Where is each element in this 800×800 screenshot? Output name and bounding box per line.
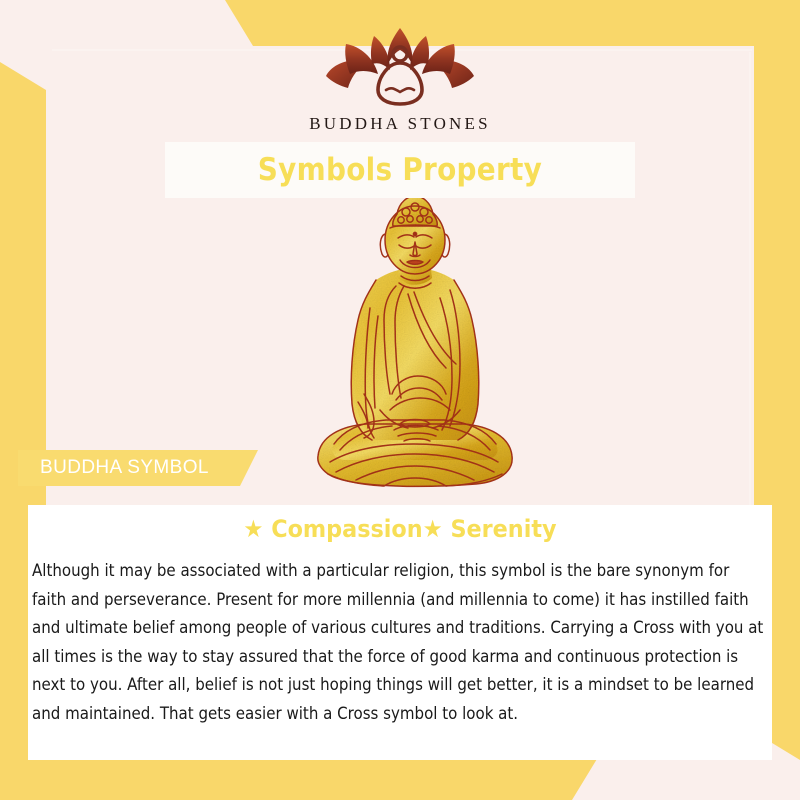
page-title-band: Symbols Property [165, 142, 635, 198]
golden-buddha-statue-image [300, 198, 530, 490]
section-ribbon: BUDDHA SYMBOL [18, 450, 258, 486]
frame-band-bottom [0, 754, 800, 800]
content-panel: ★ Compassion★ Serenity Although it may b… [28, 505, 772, 760]
brand-name: BUDDHA STONES [309, 114, 491, 134]
brand-logo: BUDDHA STONES [0, 24, 800, 134]
promo-page: BUDDHA STONES Symbols Property [0, 0, 800, 800]
lotus-meditation-icon [310, 24, 490, 108]
page-title: Symbols Property [258, 152, 542, 188]
section-ribbon-label: BUDDHA SYMBOL [40, 457, 209, 479]
content-subtitle: ★ Compassion★ Serenity [54, 515, 746, 543]
content-paragraph: Although it may be associated with a par… [32, 557, 768, 728]
